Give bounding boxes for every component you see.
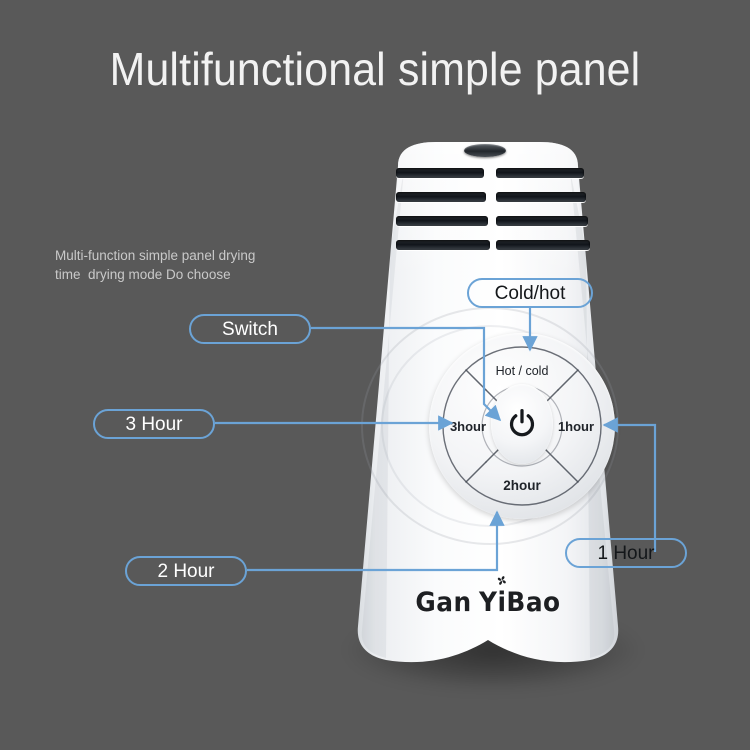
vent-grille (396, 168, 586, 260)
description-line-2: time drying mode Do choose (55, 265, 315, 284)
brand-text-gan: Gan (415, 587, 471, 618)
power-button[interactable] (491, 384, 553, 464)
brand-fan-icon: i (497, 587, 506, 618)
callout-switch-label: Switch (222, 320, 278, 339)
description-line-1: Multi-function simple panel drying (55, 246, 315, 265)
callout-switch[interactable]: Switch (189, 314, 311, 344)
callout-one-hour-label: 1 Hour (597, 544, 654, 563)
top-indicator-knob (464, 144, 506, 157)
brand-logo: GanYi Bao (332, 587, 645, 618)
power-icon (505, 407, 539, 441)
dial-button-1hour[interactable]: 1hour (545, 419, 607, 434)
control-dial[interactable]: Hot / cold 1hour 2hour 3hour (429, 333, 615, 519)
callout-cold-hot[interactable]: Cold/hot (467, 278, 593, 308)
page-title: Multifunctional simple panel (26, 40, 724, 98)
brand-text-y: Y (479, 587, 497, 618)
callout-three-hour-label: 3 Hour (125, 415, 182, 434)
infographic-canvas: Multifunctional simple panel Multi-funct… (0, 0, 750, 750)
callout-cold-hot-label: Cold/hot (495, 284, 566, 303)
dial-button-hot-cold[interactable]: Hot / cold (429, 364, 615, 378)
callout-one-hour[interactable]: 1 Hour (565, 538, 687, 568)
description-text: Multi-function simple panel drying time … (55, 246, 315, 284)
brand-text-bao: Bao (506, 587, 560, 618)
callout-three-hour[interactable]: 3 Hour (93, 409, 215, 439)
callout-two-hour-label: 2 Hour (157, 562, 214, 581)
callout-two-hour[interactable]: 2 Hour (125, 556, 247, 586)
dial-button-2hour[interactable]: 2hour (429, 478, 615, 493)
dial-button-3hour[interactable]: 3hour (437, 419, 499, 434)
